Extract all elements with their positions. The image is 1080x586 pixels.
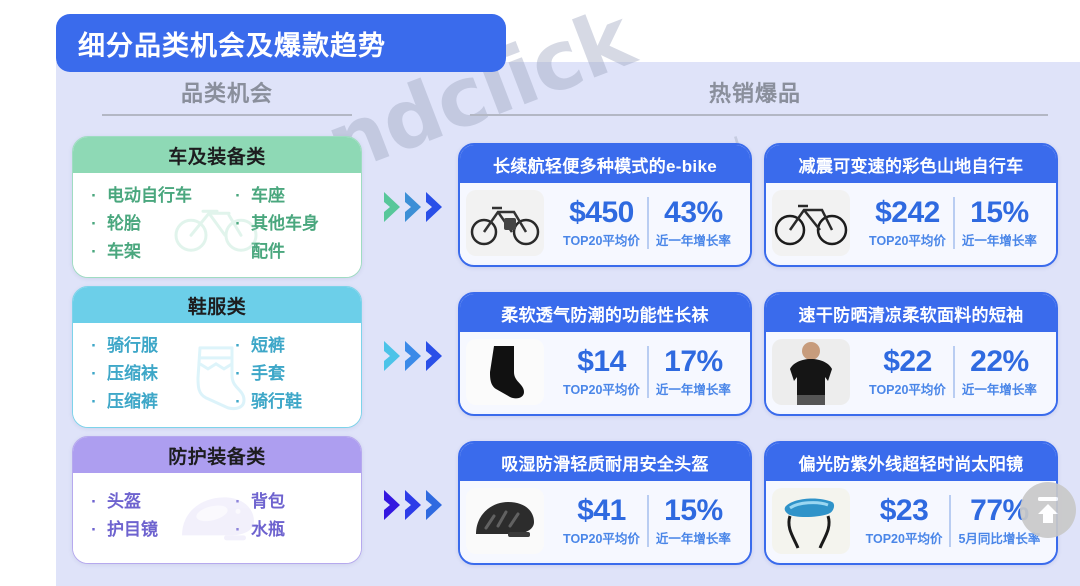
category-column-left: ·骑行服 ·压缩袜 ·压缩裤	[73, 331, 217, 417]
category-item[interactable]: ·压缩袜	[89, 361, 217, 387]
bullet-icon: ·	[233, 489, 243, 515]
column-rule-left	[102, 114, 352, 116]
category-item[interactable]: ·骑行鞋	[233, 389, 361, 415]
bullet-icon: ·	[233, 517, 243, 543]
product-card-ebike[interactable]: 长续航轻便多种模式的e-bike $450 TOP20平均价 43% 近一年增长…	[458, 143, 752, 267]
left-margin	[0, 0, 56, 586]
product-card-sunglasses[interactable]: 偏光防紫外线超轻时尚太阳镜 $23 TOP20平均价 77% 5月同比增长率	[764, 441, 1058, 565]
product-title: 减震可变速的彩色山地自行车	[766, 145, 1056, 183]
category-title: 车及装备类	[73, 137, 361, 173]
price-label: TOP20平均价	[866, 528, 943, 547]
column-header-opportunities: 品类机会	[72, 76, 382, 108]
category-item[interactable]: ·压缩裤	[89, 389, 217, 415]
product-body: $14 TOP20平均价 17% 近一年增长率	[460, 332, 750, 412]
category-item-label: 短裤	[251, 333, 285, 359]
bullet-icon: ·	[233, 183, 243, 209]
category-title: 防护装备类	[73, 437, 361, 473]
bullet-icon: ·	[233, 361, 243, 387]
category-item[interactable]: ·轮胎	[89, 211, 217, 237]
category-body: ·头盔 ·护目镜 ·背包 ·水瓶	[73, 473, 361, 563]
category-card-apparel[interactable]: 鞋服类 ·骑行服 ·压缩袜 ·压缩裤 ·短裤 ·手套 ·骑行鞋	[72, 286, 362, 428]
category-item[interactable]: ·背包	[233, 489, 361, 515]
product-card-mountain-bike[interactable]: 减震可变速的彩色山地自行车 $242 TOP20平均价 15% 近一年增长率	[764, 143, 1058, 267]
sock-photo	[466, 339, 544, 405]
chevron-row-3	[382, 488, 452, 522]
stat-price: $14 TOP20平均价	[556, 346, 647, 398]
back-to-top-icon	[1034, 495, 1062, 525]
category-item[interactable]: ·手套	[233, 361, 361, 387]
category-item[interactable]: ·水瓶	[233, 517, 361, 543]
price-value: $14	[577, 346, 626, 378]
category-item-label: 背包	[251, 489, 285, 515]
product-stats: $41 TOP20平均价 15% 近一年增长率	[544, 481, 750, 561]
category-item[interactable]: ·车座	[233, 183, 361, 209]
category-column-right: ·短裤 ·手套 ·骑行鞋	[217, 331, 361, 417]
tshirt-model-photo	[772, 339, 850, 405]
slide-canvas: Beyondclick Meetsocial 细分品类机会及爆款趋势 品类机会 …	[0, 0, 1080, 586]
bullet-icon: ·	[233, 211, 243, 237]
growth-value: 43%	[664, 197, 723, 229]
category-title: 鞋服类	[73, 287, 361, 323]
growth-label: 近一年增长率	[962, 230, 1037, 249]
bullet-icon: ·	[233, 333, 243, 359]
category-item[interactable]: ·短裤	[233, 333, 361, 359]
growth-value: 17%	[664, 346, 723, 378]
price-value: $450	[569, 197, 634, 229]
category-item-label: 骑行服	[107, 333, 158, 359]
sunglasses-photo	[772, 488, 850, 554]
product-title: 速干防晒清凉柔软面料的短袖	[766, 294, 1056, 332]
category-column-right: ·车座 ·其他车身 ·配件	[217, 181, 361, 267]
product-body: $23 TOP20平均价 77% 5月同比增长率	[766, 481, 1056, 561]
growth-label: 近一年增长率	[656, 379, 731, 398]
price-label: TOP20平均价	[869, 379, 946, 398]
bullet-icon: ·	[89, 333, 99, 359]
chevron-row-1	[382, 190, 452, 224]
product-stats: $242 TOP20平均价 15% 近一年增长率	[850, 183, 1056, 263]
category-column-left: ·头盔 ·护目镜	[73, 487, 217, 545]
price-value: $242	[875, 197, 940, 229]
category-item-label: 护目镜	[107, 517, 158, 543]
category-item[interactable]: ·车架	[89, 239, 217, 265]
bullet-icon: ·	[89, 389, 99, 415]
product-card-socks[interactable]: 柔软透气防潮的功能性长袜 $14 TOP20平均价 17% 近一年增长率	[458, 292, 752, 416]
category-item-label: 轮胎	[107, 211, 141, 237]
category-card-vehicles[interactable]: 车及装备类 ·电动自行车 ·轮胎 ·车架 ·车座 ·其他车身 ·配件	[72, 136, 362, 278]
stat-growth: 43% 近一年增长率	[649, 197, 738, 249]
price-label: TOP20平均价	[563, 230, 640, 249]
product-body: $450 TOP20平均价 43% 近一年增长率	[460, 183, 750, 263]
bullet-icon: ·	[89, 239, 99, 265]
stat-growth: 15% 近一年增长率	[649, 495, 738, 547]
category-body: ·骑行服 ·压缩袜 ·压缩裤 ·短裤 ·手套 ·骑行鞋	[73, 323, 361, 427]
stat-price: $450 TOP20平均价	[556, 197, 647, 249]
category-card-protective-gear[interactable]: 防护装备类 ·头盔 ·护目镜 ·背包 ·水瓶	[72, 436, 362, 564]
category-item[interactable]: ·电动自行车	[89, 183, 217, 209]
price-label: TOP20平均价	[869, 230, 946, 249]
category-column-left: ·电动自行车 ·轮胎 ·车架	[73, 181, 217, 267]
product-title: 柔软透气防潮的功能性长袜	[460, 294, 750, 332]
page-title: 细分品类机会及爆款趋势	[78, 24, 386, 63]
product-stats: $450 TOP20平均价 43% 近一年增长率	[544, 183, 750, 263]
category-item-label: 其他车身	[251, 211, 319, 237]
product-title: 偏光防紫外线超轻时尚太阳镜	[766, 443, 1056, 481]
stat-growth: 15% 近一年增长率	[955, 197, 1044, 249]
price-value: $23	[880, 495, 929, 527]
title-banner: 细分品类机会及爆款趋势	[56, 14, 506, 72]
price-label: TOP20平均价	[563, 528, 640, 547]
bullet-icon: ·	[89, 361, 99, 387]
category-item[interactable]: ·护目镜	[89, 517, 217, 543]
column-header-hot-products: 热销爆品	[455, 76, 1055, 108]
bullet-icon: ·	[233, 389, 243, 415]
category-item-label: 车架	[107, 239, 141, 265]
product-title: 吸湿防滑轻质耐用安全头盔	[460, 443, 750, 481]
product-body: $22 TOP20平均价 22% 近一年增长率	[766, 332, 1056, 412]
product-title: 长续航轻便多种模式的e-bike	[460, 145, 750, 183]
bullet-icon: ·	[89, 517, 99, 543]
category-column-right: ·背包 ·水瓶	[217, 487, 361, 545]
category-item-label: 头盔	[107, 489, 141, 515]
product-body: $41 TOP20平均价 15% 近一年增长率	[460, 481, 750, 561]
category-item[interactable]: ·骑行服	[89, 333, 217, 359]
product-card-tshirt[interactable]: 速干防晒清凉柔软面料的短袖 $22 TOP20平均价 22% 近一年增长率	[764, 292, 1058, 416]
product-stats: $22 TOP20平均价 22% 近一年增长率	[850, 332, 1056, 412]
growth-label: 近一年增长率	[656, 230, 731, 249]
growth-value: 15%	[970, 197, 1029, 229]
chevron-row-2	[382, 339, 452, 373]
stat-price: $23 TOP20平均价	[859, 495, 950, 547]
category-item-label: 车座	[251, 183, 285, 209]
growth-value: 22%	[970, 346, 1029, 378]
category-item-label: 骑行鞋	[251, 389, 302, 415]
category-item[interactable]: ·配件	[233, 239, 361, 265]
product-body: $242 TOP20平均价 15% 近一年增长率	[766, 183, 1056, 263]
product-card-helmet[interactable]: 吸湿防滑轻质耐用安全头盔 $41 TOP20平均价 15% 近一年增长率	[458, 441, 752, 565]
stat-price: $22 TOP20平均价	[862, 346, 953, 398]
category-item-label: 手套	[251, 361, 285, 387]
column-rule-right	[470, 114, 1048, 116]
helmet-photo	[466, 488, 544, 554]
category-item[interactable]: ·头盔	[89, 489, 217, 515]
bullet-icon: ·	[89, 211, 99, 237]
price-label: TOP20平均价	[563, 379, 640, 398]
product-stats: $14 TOP20平均价 17% 近一年增长率	[544, 332, 750, 412]
price-value: $41	[577, 495, 626, 527]
mountain-bike-photo	[772, 190, 850, 256]
category-item-label: 压缩袜	[107, 361, 158, 387]
bullet-icon: ·	[89, 183, 99, 209]
category-item-label: 水瓶	[251, 517, 285, 543]
growth-label: 近一年增长率	[962, 379, 1037, 398]
category-body: ·电动自行车 ·轮胎 ·车架 ·车座 ·其他车身 ·配件	[73, 173, 361, 277]
ebike-photo	[466, 190, 544, 256]
category-item-label: 配件	[251, 239, 285, 265]
growth-label: 近一年增长率	[656, 528, 731, 547]
price-value: $22	[883, 346, 932, 378]
stat-growth: 17% 近一年增长率	[649, 346, 738, 398]
stat-growth: 22% 近一年增长率	[955, 346, 1044, 398]
bullet-icon: ·	[89, 489, 99, 515]
growth-label: 5月同比增长率	[958, 528, 1040, 547]
stat-price: $41 TOP20平均价	[556, 495, 647, 547]
category-item-label: 压缩裤	[107, 389, 158, 415]
back-to-top-button[interactable]	[1020, 482, 1076, 538]
stat-price: $242 TOP20平均价	[862, 197, 953, 249]
category-item-label: 电动自行车	[107, 183, 192, 209]
growth-value: 15%	[664, 495, 723, 527]
category-item[interactable]: ·其他车身	[233, 211, 361, 237]
